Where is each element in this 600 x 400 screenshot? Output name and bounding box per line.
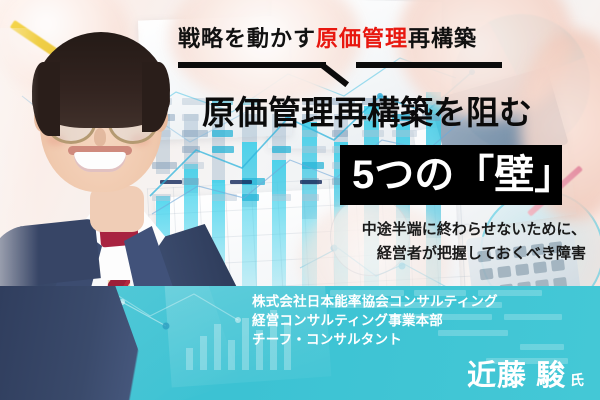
nose <box>94 128 106 146</box>
eyebrow-text-after: 再構築 <box>408 26 477 51</box>
company-affiliation: 株式会社日本能率協会コンサルティング 経営コンサルティング事業本部 チーフ・コン… <box>252 292 498 349</box>
lead-copy: 中途半端に終わらせないために、 経営者が把握しておくべき障害 <box>362 218 586 266</box>
suit-shoulder <box>0 218 101 289</box>
speaker-name-suffix: 氏 <box>570 372 584 388</box>
company-line-3: チーフ・コンサルタント <box>252 330 498 349</box>
lead-copy-line-2: 経営者が把握しておくべき障害 <box>362 242 586 266</box>
company-line-1: 株式会社日本能率協会コンサルティング <box>252 292 498 311</box>
speaker-name: 近藤 駿 <box>467 360 566 392</box>
eyebrow-text-before: 戦略を動かす <box>178 26 316 51</box>
company-line-2: 経営コンサルティング事業本部 <box>252 311 498 330</box>
headline-rule-right <box>356 62 502 68</box>
smiling-mouth <box>74 152 126 172</box>
speaker-name-block: 近藤 駿氏 <box>467 352 584 394</box>
emphasis-box-label: 5つの「壁」 <box>352 150 574 200</box>
eyebrow-text-highlight: 原価管理 <box>316 26 408 51</box>
neck <box>90 186 144 232</box>
lead-copy-line-1: 中途半端に終わらせないために、 <box>362 218 586 242</box>
headline-rule-left <box>178 62 326 68</box>
eyebrow-headline: 戦略を動かす原価管理再構築 <box>178 28 477 50</box>
page-title: 原価管理再構築を阻む <box>202 95 532 131</box>
seminar-banner: 戦略を動かす原価管理再構築 原価管理再構築を阻む 5つの「壁」 中途半端に終わら… <box>0 0 600 400</box>
